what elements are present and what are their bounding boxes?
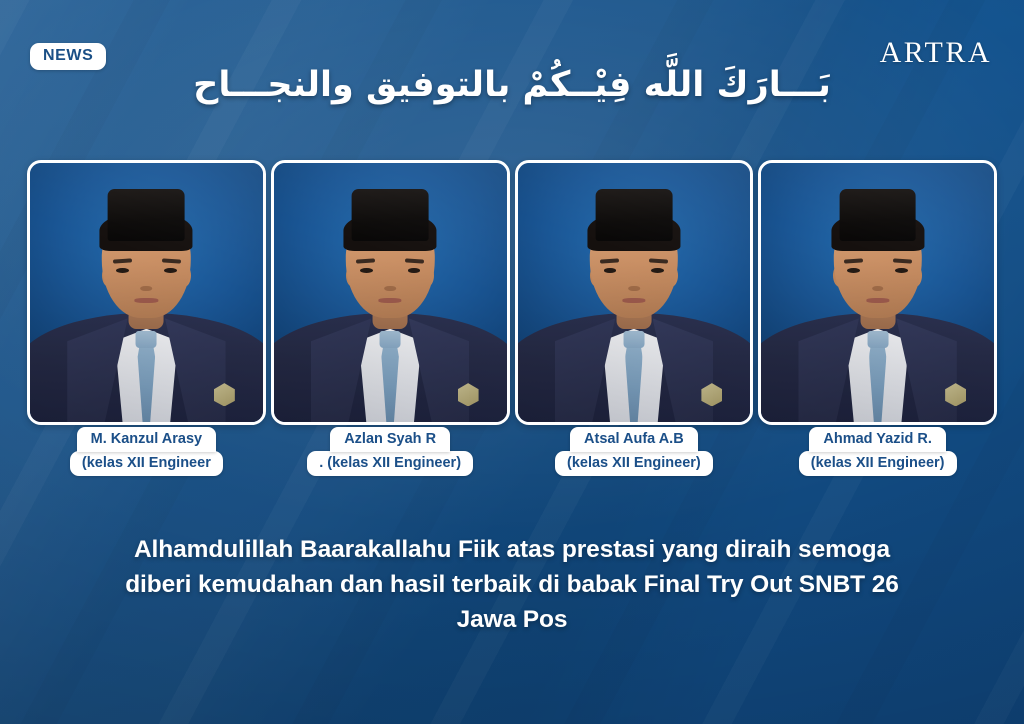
student-class-label: (kelas XII Engineer) — [799, 451, 957, 477]
student-photo-card-3 — [515, 160, 754, 425]
student-name-row: M. Kanzul Arasy (kelas XII Engineer Azla… — [27, 427, 997, 475]
student-name-label: Ahmad Yazid R. — [809, 427, 946, 452]
student-name-card-3: Atsal Aufa A.B (kelas XII Engineer) — [515, 427, 754, 475]
caption-line-1: Alhamdulillah Baarakallahu Fiik atas pre… — [80, 533, 944, 568]
arabic-heading: بَـــارَكَ اللَّه فِيْــكُمْ بالتوفيق وا… — [0, 60, 1024, 111]
student-name-card-2: Azlan Syah R . (kelas XII Engineer) — [271, 427, 510, 475]
news-poster: NEWS ARTRA بَـــارَكَ اللَّه فِيْــكُمْ … — [0, 0, 1024, 724]
student-class-label: (kelas XII Engineer) — [555, 451, 713, 477]
student-portrait-3 — [518, 163, 751, 422]
portrait-shading — [518, 163, 751, 422]
student-name-card-4: Ahmad Yazid R. (kelas XII Engineer) — [758, 427, 997, 475]
student-photo-card-4 — [758, 160, 997, 425]
student-name-label: Atsal Aufa A.B — [570, 427, 698, 452]
student-name-card-1: M. Kanzul Arasy (kelas XII Engineer — [27, 427, 266, 475]
portrait-shading — [30, 163, 263, 422]
student-portrait-4 — [761, 163, 994, 422]
portrait-shading — [761, 163, 994, 422]
caption-line-2: diberi kemudahan dan hasil terbaik di ba… — [80, 568, 944, 603]
caption-block: Alhamdulillah Baarakallahu Fiik atas pre… — [80, 533, 944, 637]
student-class-label: (kelas XII Engineer — [70, 451, 223, 477]
student-photo-row — [27, 160, 997, 425]
student-photo-card-1 — [27, 160, 266, 425]
student-name-label: Azlan Syah R — [330, 427, 450, 452]
student-photo-card-2 — [271, 160, 510, 425]
student-class-label: . (kelas XII Engineer) — [307, 451, 473, 477]
caption-line-3: Jawa Pos — [80, 603, 944, 638]
student-portrait-1 — [30, 163, 263, 422]
student-portrait-2 — [274, 163, 507, 422]
student-name-label: M. Kanzul Arasy — [77, 427, 216, 452]
portrait-shading — [274, 163, 507, 422]
